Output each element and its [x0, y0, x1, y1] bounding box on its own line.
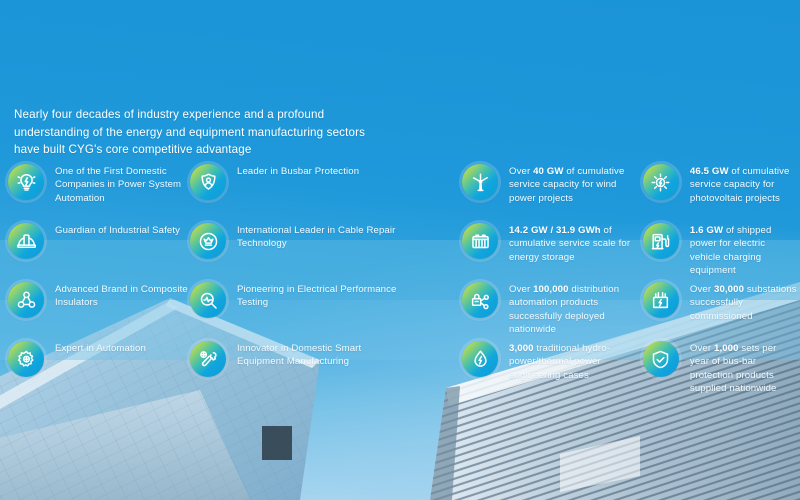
list-item-label: Advanced Brand in Composite Insulators [55, 281, 190, 310]
composite-insulator-icon [8, 282, 44, 318]
hard-hat-safety-icon [8, 223, 44, 259]
metrics-column-two: 46.5 GW of cumulative service capacity f… [643, 163, 798, 399]
list-item[interactable]: 3,000 traditional hydro-power/thermal po… [462, 340, 643, 398]
headline-text: Nearly four decades of industry experien… [14, 106, 374, 159]
strengths-group: One of the First Domestic Companies in P… [8, 163, 438, 399]
ev-charging-station-icon [643, 223, 679, 259]
hydro-power-droplet-icon [462, 341, 498, 377]
smart-equipment-manufacturing-icon [190, 341, 226, 377]
substation-icon [643, 282, 679, 318]
list-item-label: Innovator in Domestic Smart Equipment Ma… [237, 340, 400, 369]
strengths-column-one: One of the First Domestic Companies in P… [8, 163, 190, 399]
list-item-label: 46.5 GW of cumulative service capacity f… [690, 163, 798, 205]
list-item-label: 1.6 GW of shipped power for electric veh… [690, 222, 798, 278]
busbar-protection-shield-icon [190, 164, 226, 200]
metrics-column-one: Over 40 GW of cumulative service capacit… [462, 163, 643, 399]
list-item[interactable]: Guardian of Industrial Safety [8, 222, 190, 280]
metrics-group: Over 40 GW of cumulative service capacit… [462, 163, 798, 399]
list-item[interactable]: Innovator in Domestic Smart Equipment Ma… [190, 340, 400, 398]
power-system-automation-icon [8, 164, 44, 200]
list-item-label: Over 100,000 distribution automation pro… [509, 281, 643, 337]
list-item[interactable]: Pioneering in Electrical Performance Tes… [190, 281, 400, 339]
busbar-protection-icon [643, 341, 679, 377]
list-item-label: International Leader in Cable Repair Tec… [237, 222, 400, 251]
list-item-label: Over 1,000 sets per year of bus-bar prot… [690, 340, 798, 396]
list-item[interactable]: Over 40 GW of cumulative service capacit… [462, 163, 643, 221]
energy-storage-battery-icon [462, 223, 498, 259]
list-item-label: Leader in Busbar Protection [237, 163, 359, 178]
list-item[interactable]: Advanced Brand in Composite Insulators [8, 281, 190, 339]
list-item[interactable]: One of the First Domestic Companies in P… [8, 163, 190, 221]
list-item[interactable]: International Leader in Cable Repair Tec… [190, 222, 400, 280]
performance-testing-magnifier-icon [190, 282, 226, 318]
list-item[interactable]: Expert in Automation [8, 340, 190, 398]
distribution-automation-icon [462, 282, 498, 318]
cable-repair-crown-icon [190, 223, 226, 259]
promo-banner: Nearly four decades of industry experien… [0, 0, 800, 500]
list-item[interactable]: Over 30,000 substations successfully com… [643, 281, 798, 339]
strengths-column-two: Leader in Busbar Protection Internationa… [190, 163, 400, 399]
automation-gear-icon [8, 341, 44, 377]
list-item-label: Guardian of Industrial Safety [55, 222, 180, 237]
list-item-label: One of the First Domestic Companies in P… [55, 163, 190, 205]
list-item[interactable]: 1.6 GW of shipped power for electric veh… [643, 222, 798, 280]
wind-turbine-icon [462, 164, 498, 200]
list-item-label: 14.2 GW / 31.9 GWh of cumulative service… [509, 222, 643, 264]
photovoltaic-sun-icon [643, 164, 679, 200]
list-item-label: Over 40 GW of cumulative service capacit… [509, 163, 643, 205]
list-item[interactable]: Over 1,000 sets per year of bus-bar prot… [643, 340, 798, 398]
list-item[interactable]: Leader in Busbar Protection [190, 163, 400, 221]
list-item-label: Over 30,000 substations successfully com… [690, 281, 798, 323]
list-item-label: 3,000 traditional hydro-power/thermal po… [509, 340, 643, 382]
list-item[interactable]: Over 100,000 distribution automation pro… [462, 281, 643, 339]
list-item[interactable]: 14.2 GW / 31.9 GWh of cumulative service… [462, 222, 643, 280]
list-item-label: Pioneering in Electrical Performance Tes… [237, 281, 400, 310]
list-item[interactable]: 46.5 GW of cumulative service capacity f… [643, 163, 798, 221]
list-item-label: Expert in Automation [55, 340, 146, 355]
